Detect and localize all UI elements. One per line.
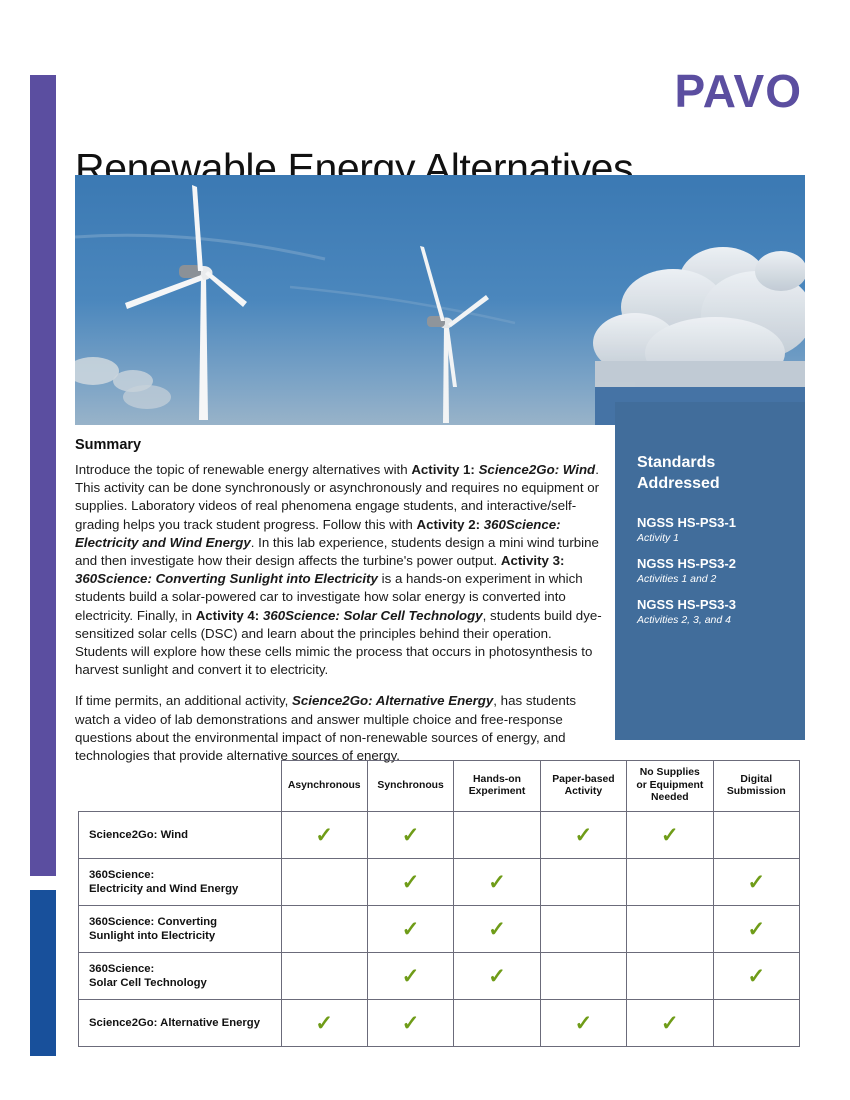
activity-matrix-table: Asynchronous Synchronous Hands-on Experi… bbox=[78, 760, 800, 1047]
activity-name: Science2Go: Alternative Energy bbox=[79, 1000, 282, 1047]
matrix-head: Asynchronous Synchronous Hands-on Experi… bbox=[79, 761, 800, 812]
column-header: No Supplies or Equipment Needed bbox=[627, 761, 713, 812]
table-row: 360Science: Solar Cell Technology✓✓✓ bbox=[79, 953, 800, 1000]
table-row: Science2Go: Alternative Energy✓✓✓✓ bbox=[79, 1000, 800, 1047]
check-icon: ✓ bbox=[401, 873, 420, 892]
table-row: 360Science: Electricity and Wind Energy✓… bbox=[79, 859, 800, 906]
matrix-cell-empty bbox=[281, 906, 367, 953]
matrix-cell-empty bbox=[540, 906, 626, 953]
matrix-cell-checked: ✓ bbox=[454, 953, 540, 1000]
check-icon: ✓ bbox=[401, 826, 420, 845]
column-header: Asynchronous bbox=[281, 761, 367, 812]
standards-item: NGSS HS-PS3-2 Activities 1 and 2 bbox=[637, 555, 805, 586]
matrix-cell-checked: ✓ bbox=[713, 953, 799, 1000]
matrix-cell-empty bbox=[454, 812, 540, 859]
activity-name: 360Science: Converting Sunlight into Ele… bbox=[79, 906, 282, 953]
activity-name: 360Science: Electricity and Wind Energy bbox=[79, 859, 282, 906]
column-header: Paper-based Activity bbox=[540, 761, 626, 812]
check-icon: ✓ bbox=[401, 920, 420, 939]
column-header: Synchronous bbox=[367, 761, 453, 812]
matrix-cell-empty bbox=[713, 1000, 799, 1047]
activity-name: Science2Go: Wind bbox=[79, 812, 282, 859]
matrix-body: Science2Go: Wind✓✓✓✓360Science: Electric… bbox=[79, 812, 800, 1047]
check-icon: ✓ bbox=[747, 920, 766, 939]
table-row: 360Science: Converting Sunlight into Ele… bbox=[79, 906, 800, 953]
standard-activities: Activities 2, 3, and 4 bbox=[637, 613, 805, 627]
summary-heading: Summary bbox=[75, 437, 141, 453]
matrix-cell-empty bbox=[713, 812, 799, 859]
summary-body: Introduce the topic of renewable energy … bbox=[75, 461, 602, 778]
summary-paragraph-2: If time permits, an additional activity,… bbox=[75, 692, 602, 765]
matrix-cell-checked: ✓ bbox=[627, 1000, 713, 1047]
matrix-cell-checked: ✓ bbox=[367, 906, 453, 953]
check-icon: ✓ bbox=[315, 1014, 334, 1033]
standards-list: NGSS HS-PS3-1 Activity 1 NGSS HS-PS3-2 A… bbox=[637, 514, 805, 627]
matrix-cell-checked: ✓ bbox=[281, 812, 367, 859]
check-icon: ✓ bbox=[315, 826, 334, 845]
matrix-header-row: Asynchronous Synchronous Hands-on Experi… bbox=[79, 761, 800, 812]
check-icon: ✓ bbox=[488, 873, 507, 892]
matrix-cell-empty bbox=[627, 953, 713, 1000]
check-icon: ✓ bbox=[488, 920, 507, 939]
check-icon: ✓ bbox=[574, 826, 593, 845]
check-icon: ✓ bbox=[660, 1014, 679, 1033]
standard-code: NGSS HS-PS3-3 bbox=[637, 596, 805, 613]
matrix-cell-checked: ✓ bbox=[367, 859, 453, 906]
matrix-corner-cell bbox=[79, 761, 282, 812]
check-icon: ✓ bbox=[747, 967, 766, 986]
matrix-cell-empty bbox=[627, 859, 713, 906]
standard-code: NGSS HS-PS3-2 bbox=[637, 555, 805, 572]
column-header: Digital Submission bbox=[713, 761, 799, 812]
matrix-cell-checked: ✓ bbox=[367, 1000, 453, 1047]
standards-panel-title: Standards Addressed bbox=[637, 452, 805, 494]
matrix-cell-checked: ✓ bbox=[281, 1000, 367, 1047]
matrix-cell-checked: ✓ bbox=[454, 906, 540, 953]
matrix-cell-empty bbox=[540, 859, 626, 906]
matrix-cell-empty bbox=[454, 1000, 540, 1047]
matrix-cell-empty bbox=[281, 953, 367, 1000]
check-icon: ✓ bbox=[747, 873, 766, 892]
column-header: Hands-on Experiment bbox=[454, 761, 540, 812]
matrix-cell-empty bbox=[281, 859, 367, 906]
standard-activities: Activity 1 bbox=[637, 531, 805, 545]
matrix-cell-empty bbox=[627, 906, 713, 953]
matrix-cell-checked: ✓ bbox=[367, 953, 453, 1000]
standard-activities: Activities 1 and 2 bbox=[637, 572, 805, 586]
matrix-cell-checked: ✓ bbox=[367, 812, 453, 859]
table-row: Science2Go: Wind✓✓✓✓ bbox=[79, 812, 800, 859]
matrix-cell-checked: ✓ bbox=[627, 812, 713, 859]
matrix-cell-checked: ✓ bbox=[454, 859, 540, 906]
activity-name: 360Science: Solar Cell Technology bbox=[79, 953, 282, 1000]
check-icon: ✓ bbox=[401, 967, 420, 986]
summary-paragraph-1: Introduce the topic of renewable energy … bbox=[75, 461, 602, 679]
hero-image-wind-turbines bbox=[75, 175, 805, 425]
matrix-cell-empty bbox=[540, 953, 626, 1000]
pavo-logo: PAVO bbox=[674, 68, 802, 114]
check-icon: ✓ bbox=[660, 826, 679, 845]
check-icon: ✓ bbox=[488, 967, 507, 986]
left-accent-bar-blue bbox=[30, 890, 56, 1056]
wind-turbine-illustration bbox=[75, 175, 805, 425]
matrix-cell-checked: ✓ bbox=[713, 859, 799, 906]
standards-item: NGSS HS-PS3-1 Activity 1 bbox=[637, 514, 805, 545]
matrix-cell-checked: ✓ bbox=[540, 812, 626, 859]
standard-code: NGSS HS-PS3-1 bbox=[637, 514, 805, 531]
standards-item: NGSS HS-PS3-3 Activities 2, 3, and 4 bbox=[637, 596, 805, 627]
standards-addressed-panel: Standards Addressed NGSS HS-PS3-1 Activi… bbox=[615, 402, 805, 740]
left-accent-bar-purple bbox=[30, 75, 56, 876]
matrix-cell-checked: ✓ bbox=[540, 1000, 626, 1047]
check-icon: ✓ bbox=[574, 1014, 593, 1033]
check-icon: ✓ bbox=[401, 1014, 420, 1033]
matrix-cell-checked: ✓ bbox=[713, 906, 799, 953]
